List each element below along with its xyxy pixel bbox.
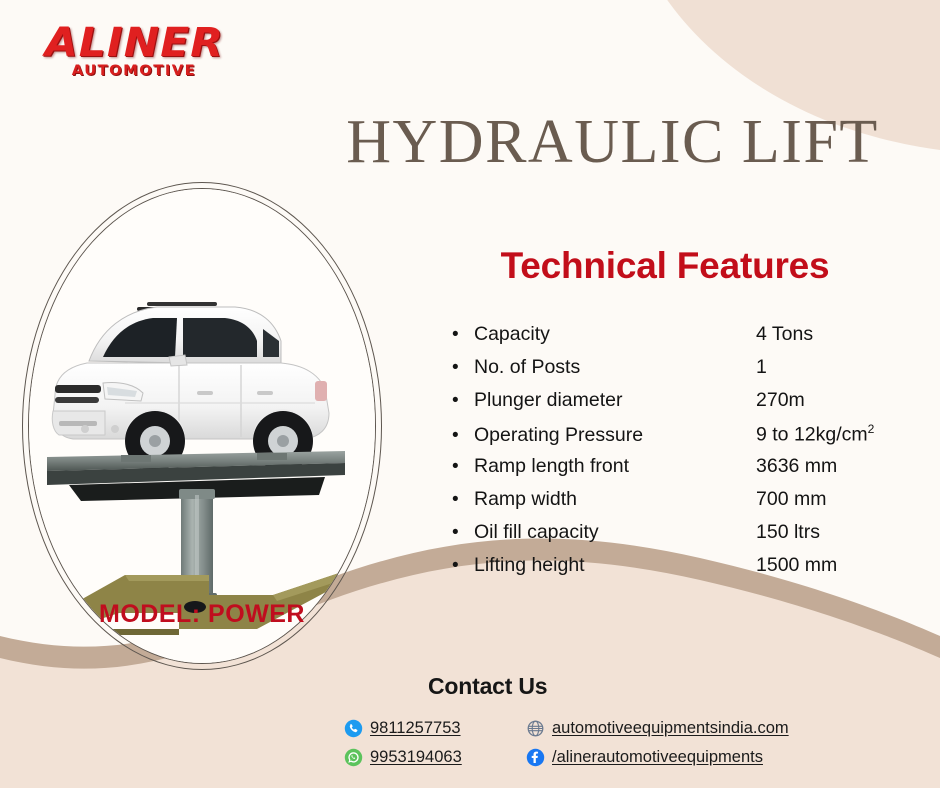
contact-row-whatsapp[interactable]: 9953194063 [344, 743, 462, 772]
spec-label: Lifting height [474, 554, 756, 577]
bullet-icon: • [452, 325, 474, 344]
contact-row-website[interactable]: automotiveequipmentsindia.com [526, 714, 789, 743]
spec-value: 4 Tons [756, 323, 912, 346]
contact-column-phone: 9811257753 9953194063 [344, 714, 462, 772]
spec-label: Operating Pressure [474, 424, 756, 447]
product-image-frame: MODEL: POWER [22, 182, 382, 670]
spec-row: • Lifting height 1500 mm [452, 554, 912, 587]
phone-icon [344, 719, 363, 738]
spec-value: 3636 mm [756, 455, 912, 478]
contact-column-web: automotiveequipmentsindia.com /alineraut… [526, 714, 789, 772]
spec-value: 700 mm [756, 488, 912, 511]
facebook-icon [526, 748, 545, 767]
bullet-icon: • [452, 426, 474, 445]
spec-row: • No. of Posts 1 [452, 356, 912, 389]
spec-value-superscript: 2 [868, 422, 875, 436]
globe-icon [526, 719, 545, 738]
bullet-icon: • [452, 457, 474, 476]
specifications-list: • Capacity 4 Tons • No. of Posts 1 • Plu… [452, 323, 912, 587]
brand-logo-tagline: AUTOMOTIVE [72, 63, 196, 79]
spec-value: 1 [756, 356, 912, 379]
bullet-icon: • [452, 556, 474, 575]
spec-value: 270m [756, 389, 912, 412]
spec-row: • Ramp width 700 mm [452, 488, 912, 521]
contact-row-facebook[interactable]: /alinerautomotiveequipments [526, 743, 789, 772]
spec-value: 1500 mm [756, 554, 912, 577]
facebook-handle[interactable]: /alinerautomotiveequipments [552, 748, 763, 767]
spec-value: 9 to 12kg/cm2 [756, 422, 912, 447]
bullet-icon: • [452, 391, 474, 410]
model-label: MODEL: POWER [22, 600, 382, 629]
spec-value: 150 ltrs [756, 521, 912, 544]
oval-border-inner [28, 188, 376, 664]
contact-heading: Contact Us [428, 673, 547, 700]
spec-row: • Operating Pressure 9 to 12kg/cm2 [452, 422, 912, 455]
spec-row: • Plunger diameter 270m [452, 389, 912, 422]
poster-canvas: ALINER AUTOMOTIVE HYDRAULIC LIFT [0, 0, 940, 788]
whatsapp-number[interactable]: 9953194063 [370, 748, 462, 767]
features-heading: Technical Features [430, 245, 900, 287]
spec-label: Ramp length front [474, 455, 756, 478]
bullet-icon: • [452, 490, 474, 509]
spec-row: • Capacity 4 Tons [452, 323, 912, 356]
product-illustration [29, 189, 376, 664]
page-title: HYDRAULIC LIFT [305, 107, 920, 178]
spec-row: • Oil fill capacity 150 ltrs [452, 521, 912, 554]
website-url[interactable]: automotiveequipmentsindia.com [552, 719, 789, 738]
phone-number[interactable]: 9811257753 [370, 719, 461, 738]
brand-logo: ALINER AUTOMOTIVE [34, 24, 234, 86]
spec-row: • Ramp length front 3636 mm [452, 455, 912, 488]
spec-label: Oil fill capacity [474, 521, 756, 544]
brand-logo-name: ALINER [44, 24, 223, 62]
whatsapp-icon [344, 748, 363, 767]
bullet-icon: • [452, 523, 474, 542]
contact-row-phone[interactable]: 9811257753 [344, 714, 462, 743]
bullet-icon: • [452, 358, 474, 377]
spec-label: No. of Posts [474, 356, 756, 379]
spec-label: Plunger diameter [474, 389, 756, 412]
spec-label: Capacity [474, 323, 756, 346]
spec-label: Ramp width [474, 488, 756, 511]
